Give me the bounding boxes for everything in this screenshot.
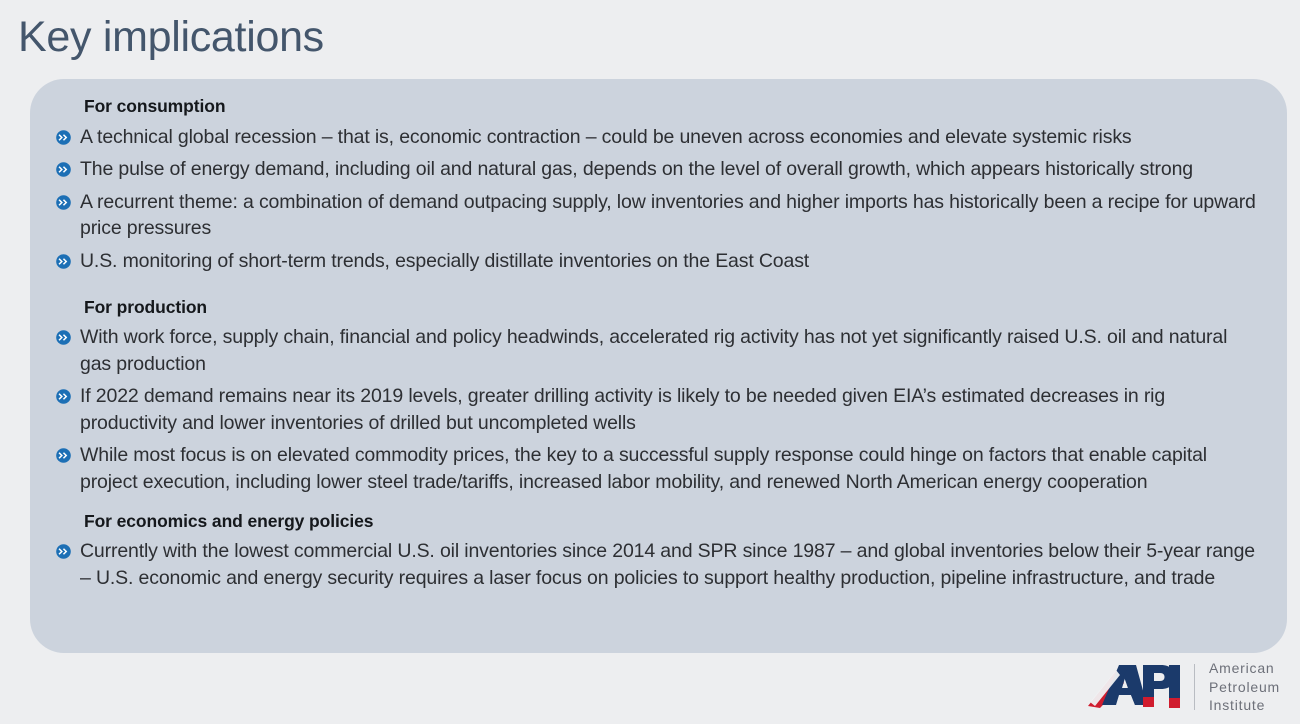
list-item: With work force, supply chain, financial…	[56, 323, 1257, 379]
bullet-text: With work force, supply chain, financial…	[80, 324, 1257, 377]
list-item: While most focus is on elevated commodit…	[56, 441, 1257, 497]
section-for-economics-and-energy-policies: For economics and energy policies Curren…	[56, 506, 1257, 593]
bullet-text: A recurrent theme: a combination of dema…	[80, 189, 1257, 242]
bullet-text: If 2022 demand remains near its 2019 lev…	[80, 383, 1257, 436]
api-logo: American Petroleum Institute	[1086, 658, 1280, 716]
content-panel: For consumption A technical global reces…	[30, 79, 1287, 653]
bullet-text: While most focus is on elevated commodit…	[80, 442, 1257, 495]
double-chevron-bullet-icon	[56, 195, 71, 210]
double-chevron-bullet-icon	[56, 448, 71, 463]
list-item: A technical global recession – that is, …	[56, 122, 1257, 152]
double-chevron-bullet-icon	[56, 544, 71, 559]
logo-line-3: Institute	[1209, 696, 1280, 715]
logo-line-1: American	[1209, 659, 1280, 678]
bullet-text: Currently with the lowest commercial U.S…	[80, 538, 1257, 591]
section-heading: For economics and energy policies	[84, 506, 1257, 536]
list-item: U.S. monitoring of short-term trends, es…	[56, 246, 1257, 276]
bullet-text: U.S. monitoring of short-term trends, es…	[80, 248, 809, 275]
section-for-production: For production With work force, supply c…	[56, 292, 1257, 497]
list-item: The pulse of energy demand, including oi…	[56, 155, 1257, 185]
page-title: Key implications	[18, 6, 324, 68]
logo-line-2: Petroleum	[1209, 678, 1280, 697]
bullet-list: A technical global recession – that is, …	[56, 122, 1257, 276]
section-spacer	[56, 279, 1257, 292]
double-chevron-bullet-icon	[56, 389, 71, 404]
section-heading: For production	[84, 292, 1257, 322]
list-item: Currently with the lowest commercial U.S…	[56, 537, 1257, 593]
api-logo-mark-icon	[1086, 661, 1182, 713]
logo-wordmark: American Petroleum Institute	[1209, 659, 1280, 715]
list-item: A recurrent theme: a combination of dema…	[56, 187, 1257, 243]
double-chevron-bullet-icon	[56, 254, 71, 269]
bullet-text: A technical global recession – that is, …	[80, 124, 1132, 151]
double-chevron-bullet-icon	[56, 330, 71, 345]
double-chevron-bullet-icon	[56, 130, 71, 145]
section-heading: For consumption	[84, 91, 1257, 121]
bullet-list: Currently with the lowest commercial U.S…	[56, 537, 1257, 593]
logo-divider	[1194, 664, 1195, 710]
list-item: If 2022 demand remains near its 2019 lev…	[56, 382, 1257, 438]
bullet-text: The pulse of energy demand, including oi…	[80, 156, 1193, 183]
double-chevron-bullet-icon	[56, 162, 71, 177]
bullet-list: With work force, supply chain, financial…	[56, 323, 1257, 497]
section-for-consumption: For consumption A technical global reces…	[56, 91, 1257, 276]
